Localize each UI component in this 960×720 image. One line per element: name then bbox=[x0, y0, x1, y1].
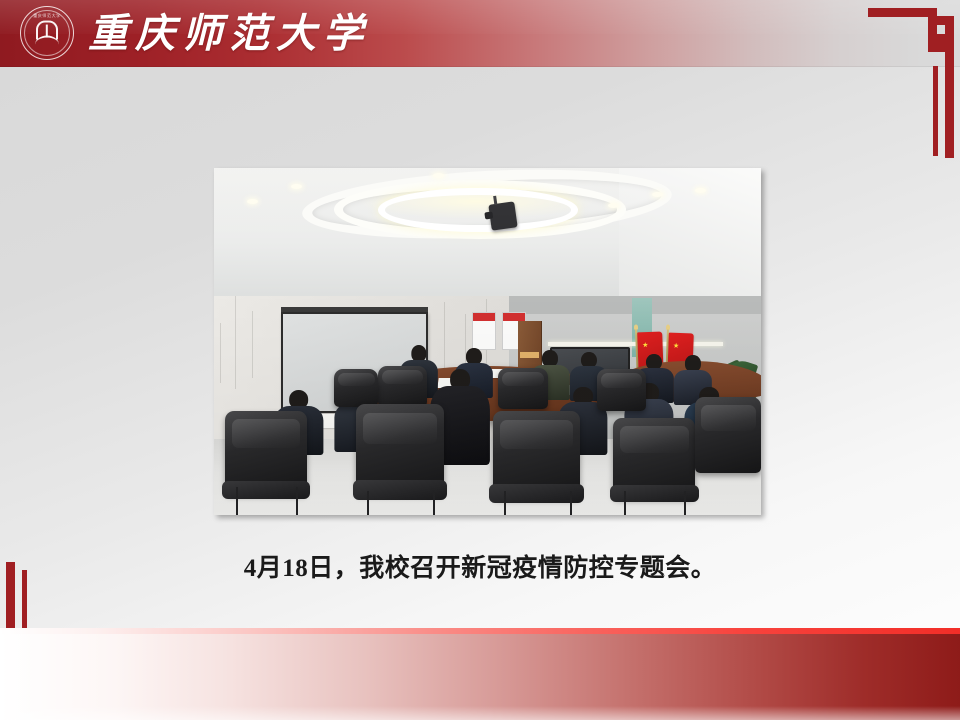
footer-gradient bbox=[0, 634, 960, 720]
presentation-slide: 重庆师范大学 重庆师范大学 bbox=[0, 0, 960, 720]
slide-header-band: 重庆师范大学 重庆师范大学 bbox=[0, 0, 960, 67]
photo-chair bbox=[225, 411, 307, 494]
university-logo-icon: 重庆师范大学 bbox=[17, 6, 77, 62]
photo-chair bbox=[498, 368, 547, 410]
photo-ceiling bbox=[214, 168, 761, 303]
vertical-rule-right bbox=[933, 66, 938, 156]
photo-chair bbox=[695, 397, 761, 473]
slide-photo: ★ ★ bbox=[214, 168, 761, 515]
seal-emblem-icon bbox=[34, 21, 60, 45]
photo-chair bbox=[378, 366, 427, 408]
seal-ring-text-top: 重庆师范大学 bbox=[17, 13, 77, 19]
university-title: 重庆师范大学 bbox=[88, 4, 370, 64]
photo-chair bbox=[356, 404, 444, 494]
slide-caption: 4月18日，我校召开新冠疫情防控专题会。 bbox=[0, 548, 960, 584]
photo-scene-conference-room: ★ ★ bbox=[214, 168, 761, 515]
photo-chair bbox=[613, 418, 695, 498]
photo-chair bbox=[597, 369, 646, 411]
photo-notice-board bbox=[472, 312, 496, 350]
photo-chair bbox=[334, 369, 378, 407]
slide-footer-band bbox=[0, 628, 960, 720]
ornament-top-right-icon bbox=[862, 8, 960, 158]
photo-chair bbox=[493, 411, 581, 498]
photo-ceiling-projector bbox=[489, 201, 518, 230]
